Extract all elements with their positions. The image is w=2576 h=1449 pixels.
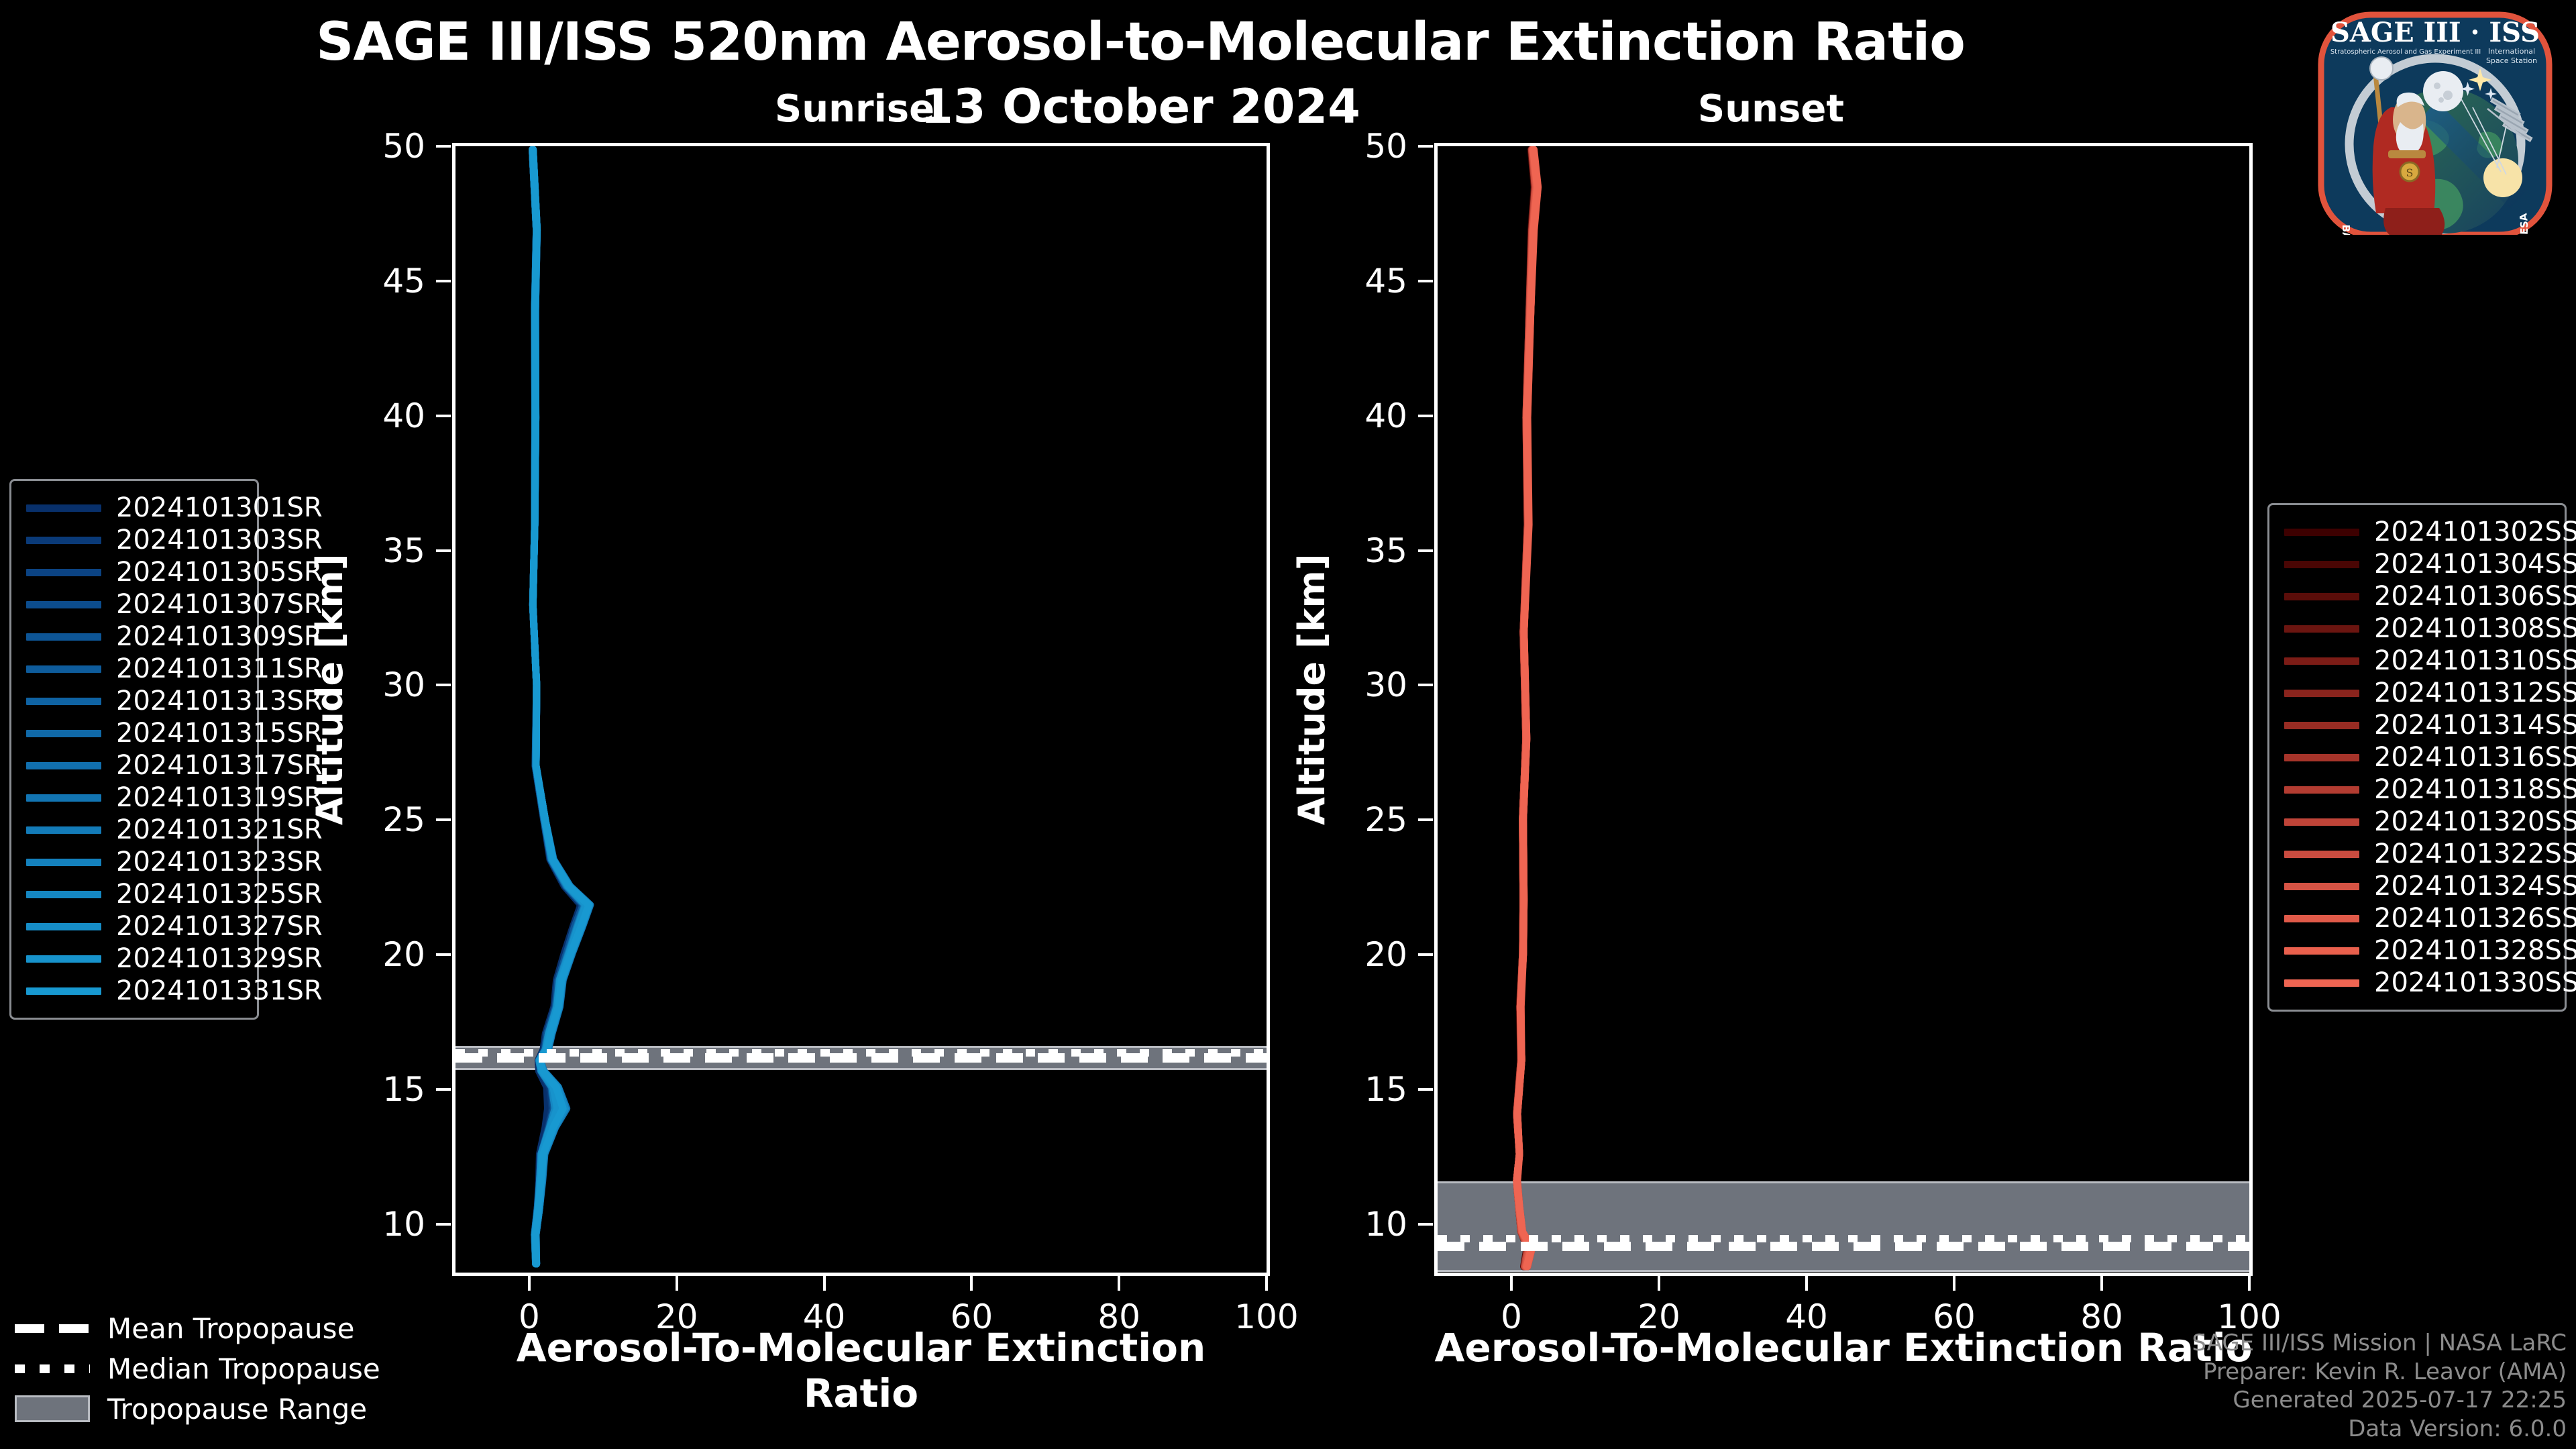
sage-iii-iss-mission-patch-logo: S SAGE III · ISS Stratospheric Aerosol a…: [2305, 7, 2565, 235]
x-tick-mark: [1953, 1276, 1955, 1291]
sunrise-legend-item[interactable]: 2024101319SR: [26, 782, 242, 814]
sunset-legend-item[interactable]: 2024101324SS: [2284, 870, 2550, 902]
legend-color-swatch-icon: [2284, 818, 2359, 826]
tropopause-range-label: Tropopause Range: [107, 1393, 367, 1426]
y-tick-label: 10: [1300, 1205, 1407, 1244]
sunset-legend-item[interactable]: 2024101314SS: [2284, 709, 2550, 741]
legend-item-label: 2024101307SR: [116, 589, 323, 620]
x-tick-mark: [823, 1276, 826, 1291]
legend-color-swatch-icon: [26, 537, 101, 544]
legend-color-swatch-icon: [26, 730, 101, 737]
sunrise-legend-item[interactable]: 2024101325SR: [26, 878, 242, 910]
legend-color-swatch-icon: [26, 987, 101, 995]
legend-item-label: 2024101327SR: [116, 911, 323, 942]
y-tick-mark: [1418, 1223, 1433, 1226]
y-tick-mark: [1418, 280, 1433, 282]
sunrise-panel-label: Sunrise: [653, 87, 1056, 131]
sunrise-mean-tropopause-line: [455, 1053, 1267, 1063]
legend-item-label: 2024101330SS: [2374, 967, 2576, 998]
x-tick-mark: [1118, 1276, 1120, 1291]
sunset-legend-item[interactable]: 2024101322SS: [2284, 838, 2550, 870]
y-tick-mark: [1418, 818, 1433, 821]
mean-tropopause-dash-icon: [15, 1324, 90, 1333]
sunrise-legend-item[interactable]: 2024101315SR: [26, 717, 242, 749]
legend-color-swatch-icon: [26, 601, 101, 608]
legend-color-swatch-icon: [2284, 561, 2359, 568]
legend-color-swatch-icon: [2284, 593, 2359, 600]
y-tick-mark: [1418, 684, 1433, 686]
legend-item-label: 2024101305SR: [116, 557, 323, 588]
y-tick-label: 40: [318, 396, 425, 435]
sunset-legend-item[interactable]: 2024101328SS: [2284, 934, 2550, 967]
sunrise-plot-panel: [452, 143, 1270, 1276]
y-tick-mark: [1418, 145, 1433, 148]
y-tick-mark: [1418, 1088, 1433, 1091]
y-tick-mark: [436, 684, 451, 686]
legend-color-swatch-icon: [26, 859, 101, 866]
y-tick-mark: [436, 1088, 451, 1091]
sunset-legend-item[interactable]: 2024101302SS: [2284, 516, 2550, 548]
legend-color-swatch-icon: [26, 698, 101, 705]
y-tick-label: 50: [318, 127, 425, 166]
legend-item-label: 2024101331SR: [116, 975, 323, 1006]
x-tick-mark: [1510, 1276, 1513, 1291]
y-tick-label: 15: [318, 1070, 425, 1109]
legend-item-label: 2024101301SR: [116, 492, 323, 523]
y-tick-mark: [436, 953, 451, 956]
y-tick-mark: [436, 145, 451, 148]
legend-item-label: 2024101311SR: [116, 653, 323, 684]
y-tick-label: 10: [318, 1205, 425, 1244]
sunset-legend-item[interactable]: 2024101316SS: [2284, 741, 2550, 773]
legend-item-label: 2024101304SS: [2374, 549, 2576, 580]
legend-color-swatch-icon: [2284, 915, 2359, 922]
legend-item-label: 2024101302SS: [2374, 517, 2576, 547]
sunset-x-axis-title: Aerosol-To-Molecular Extinction Ratio: [1434, 1325, 2253, 1371]
sunset-legend-item[interactable]: 2024101330SS: [2284, 967, 2550, 999]
legend-item-label: 2024101310SS: [2374, 645, 2576, 676]
tropopause-median-legend-row: Median Tropopause: [15, 1348, 390, 1389]
x-tick-mark: [2248, 1276, 2251, 1291]
svg-text:S: S: [2406, 166, 2414, 179]
legend-color-swatch-icon: [2284, 625, 2359, 633]
sunrise-legend-item[interactable]: 2024101317SR: [26, 749, 242, 782]
legend-color-swatch-icon: [2284, 947, 2359, 955]
sunset-mean-tropopause-line: [1438, 1242, 2249, 1251]
x-tick-mark: [528, 1276, 531, 1291]
sunrise-legend-item[interactable]: 2024101329SR: [26, 943, 242, 975]
credits-block: SAGE III/ISS Mission | NASA LaRC Prepare…: [2192, 1329, 2567, 1444]
legend-color-swatch-icon: [2284, 722, 2359, 729]
sunset-legend-item[interactable]: 2024101320SS: [2284, 806, 2550, 838]
sunrise-legend-item[interactable]: 2024101309SR: [26, 621, 242, 653]
logo-subtitle-left: Stratospheric Aerosol and Gas Experiment…: [2330, 48, 2481, 56]
legend-color-swatch-icon: [26, 923, 101, 930]
sunrise-legend-item[interactable]: 2024101311SR: [26, 653, 242, 685]
page-title: SAGE III/ISS 520nm Aerosol-to-Molecular …: [0, 12, 2281, 72]
legend-color-swatch-icon: [26, 665, 101, 673]
legend-color-swatch-icon: [26, 891, 101, 898]
credit-line-generated: Generated 2025-07-17 22:25: [2192, 1386, 2567, 1415]
legend-item-label: 2024101309SR: [116, 621, 323, 652]
legend-item-label: 2024101317SR: [116, 750, 323, 781]
sunrise-legend-item[interactable]: 2024101301SR: [26, 492, 242, 524]
sunrise-profile-lines: [455, 146, 1267, 1273]
legend-item-label: 2024101329SR: [116, 943, 323, 974]
legend-item-label: 2024101306SS: [2374, 581, 2576, 612]
x-tick-mark: [676, 1276, 678, 1291]
y-tick-label: 45: [318, 262, 425, 301]
tropopause-mean-legend-row: Mean Tropopause: [15, 1308, 390, 1348]
sunset-legend-item[interactable]: 2024101312SS: [2284, 677, 2550, 709]
legend-item-label: 2024101315SR: [116, 718, 323, 749]
legend-item-label: 2024101325SR: [116, 879, 323, 910]
legend-item-label: 2024101322SS: [2374, 839, 2576, 869]
legend-color-swatch-icon: [26, 955, 101, 963]
credit-line-data-version: Data Version: 6.0.0: [2192, 1415, 2567, 1444]
legend-item-label: 2024101320SS: [2374, 806, 2576, 837]
legend-item-label: 2024101326SS: [2374, 903, 2576, 934]
legend-item-label: 2024101323SR: [116, 847, 323, 877]
mean-tropopause-label: Mean Tropopause: [107, 1312, 354, 1345]
legend-color-swatch-icon: [26, 504, 101, 512]
sunrise-legend-item[interactable]: 2024101327SR: [26, 910, 242, 943]
tropopause-legend: Mean Tropopause Median Tropopause Tropop…: [15, 1308, 390, 1429]
legend-item-label: 2024101308SS: [2374, 613, 2576, 644]
y-tick-label: 20: [318, 935, 425, 974]
legend-color-swatch-icon: [26, 794, 101, 802]
y-tick-mark: [436, 549, 451, 552]
legend-color-swatch-icon: [26, 826, 101, 834]
y-tick-mark: [1418, 953, 1433, 956]
legend-color-swatch-icon: [2284, 690, 2359, 697]
legend-item-label: 2024101319SR: [116, 782, 323, 813]
sunset-legend[interactable]: 2024101302SS2024101304SS2024101306SS2024…: [2267, 503, 2567, 1012]
sunset-legend-item[interactable]: 2024101318SS: [2284, 773, 2550, 806]
x-tick-mark: [970, 1276, 973, 1291]
sunrise-legend[interactable]: 2024101301SR2024101303SR2024101305SR2024…: [9, 479, 259, 1020]
sunset-legend-item[interactable]: 2024101306SS: [2284, 580, 2550, 612]
logo-subtitle-right-2: Space Station: [2486, 56, 2537, 65]
sunrise-legend-item[interactable]: 2024101313SR: [26, 685, 242, 717]
sunset-y-axis-title: Altitude [km]: [1291, 554, 1333, 826]
logo-subtitle-right-1: International: [2488, 47, 2535, 56]
sunrise-legend-item[interactable]: 2024101303SR: [26, 524, 242, 556]
y-tick-mark: [1418, 415, 1433, 417]
legend-color-swatch-icon: [2284, 851, 2359, 858]
x-tick-mark: [1265, 1276, 1268, 1291]
y-tick-mark: [436, 280, 451, 282]
x-tick-mark: [1805, 1276, 1808, 1291]
sunset-legend-item[interactable]: 2024101310SS: [2284, 645, 2550, 677]
legend-item-label: 2024101312SS: [2374, 678, 2576, 708]
sunrise-plot-area: [455, 146, 1267, 1273]
credit-line-mission: SAGE III/ISS Mission | NASA LaRC: [2192, 1329, 2567, 1358]
sunset-legend-item[interactable]: 2024101308SS: [2284, 612, 2550, 645]
legend-item-label: 2024101318SS: [2374, 774, 2576, 805]
legend-color-swatch-icon: [2284, 979, 2359, 987]
sunrise-legend-item[interactable]: 2024101321SR: [26, 814, 242, 846]
y-tick-label: 50: [1300, 127, 1407, 166]
credit-line-preparer: Preparer: Kevin R. Leavor (AMA): [2192, 1358, 2567, 1387]
legend-color-swatch-icon: [2284, 657, 2359, 665]
tropopause-range-swatch-icon: [15, 1395, 90, 1422]
sunset-plot-panel: [1434, 143, 2253, 1276]
sunset-plot-area: [1438, 146, 2249, 1273]
sunrise-x-axis-title: Aerosol-To-Molecular Extinction Ratio: [452, 1325, 1270, 1416]
y-tick-label: 15: [1300, 1070, 1407, 1109]
legend-color-swatch-icon: [26, 569, 101, 576]
y-tick-label: 45: [1300, 262, 1407, 301]
x-tick-mark: [2100, 1276, 2103, 1291]
median-tropopause-label: Median Tropopause: [107, 1352, 380, 1385]
legend-color-swatch-icon: [2284, 754, 2359, 761]
legend-color-swatch-icon: [2284, 883, 2359, 890]
sunset-panel-label: Sunset: [1570, 87, 1972, 131]
legend-color-swatch-icon: [26, 633, 101, 641]
legend-color-swatch-icon: [2284, 529, 2359, 536]
profile-line: [533, 150, 588, 1264]
y-tick-mark: [436, 415, 451, 417]
logo-title: SAGE III · ISS: [2330, 17, 2540, 48]
sunset-profile-lines: [1438, 146, 2249, 1273]
sunset-legend-item[interactable]: 2024101304SS: [2284, 548, 2550, 580]
y-tick-label: 20: [1300, 935, 1407, 974]
sunrise-legend-item[interactable]: 2024101331SR: [26, 975, 242, 1007]
legend-item-label: 2024101324SS: [2374, 871, 2576, 902]
sunset-legend-item[interactable]: 2024101326SS: [2284, 902, 2550, 934]
y-tick-mark: [1418, 549, 1433, 552]
legend-color-swatch-icon: [2284, 786, 2359, 794]
legend-item-label: 2024101303SR: [116, 525, 323, 555]
y-tick-label: 40: [1300, 396, 1407, 435]
y-tick-mark: [436, 1223, 451, 1226]
sunrise-legend-item[interactable]: 2024101307SR: [26, 588, 242, 621]
x-tick-mark: [1658, 1276, 1660, 1291]
legend-item-label: 2024101314SS: [2374, 710, 2576, 741]
sunrise-legend-item[interactable]: 2024101305SR: [26, 556, 242, 588]
legend-color-swatch-icon: [26, 762, 101, 769]
legend-item-label: 2024101328SS: [2374, 935, 2576, 966]
sunrise-legend-item[interactable]: 2024101323SR: [26, 846, 242, 878]
legend-item-label: 2024101313SR: [116, 686, 323, 716]
legend-item-label: 2024101321SR: [116, 814, 323, 845]
median-tropopause-dot-icon: [15, 1364, 90, 1373]
legend-item-label: 2024101316SS: [2374, 742, 2576, 773]
y-tick-mark: [436, 818, 451, 821]
tropopause-range-legend-row: Tropopause Range: [15, 1389, 390, 1429]
